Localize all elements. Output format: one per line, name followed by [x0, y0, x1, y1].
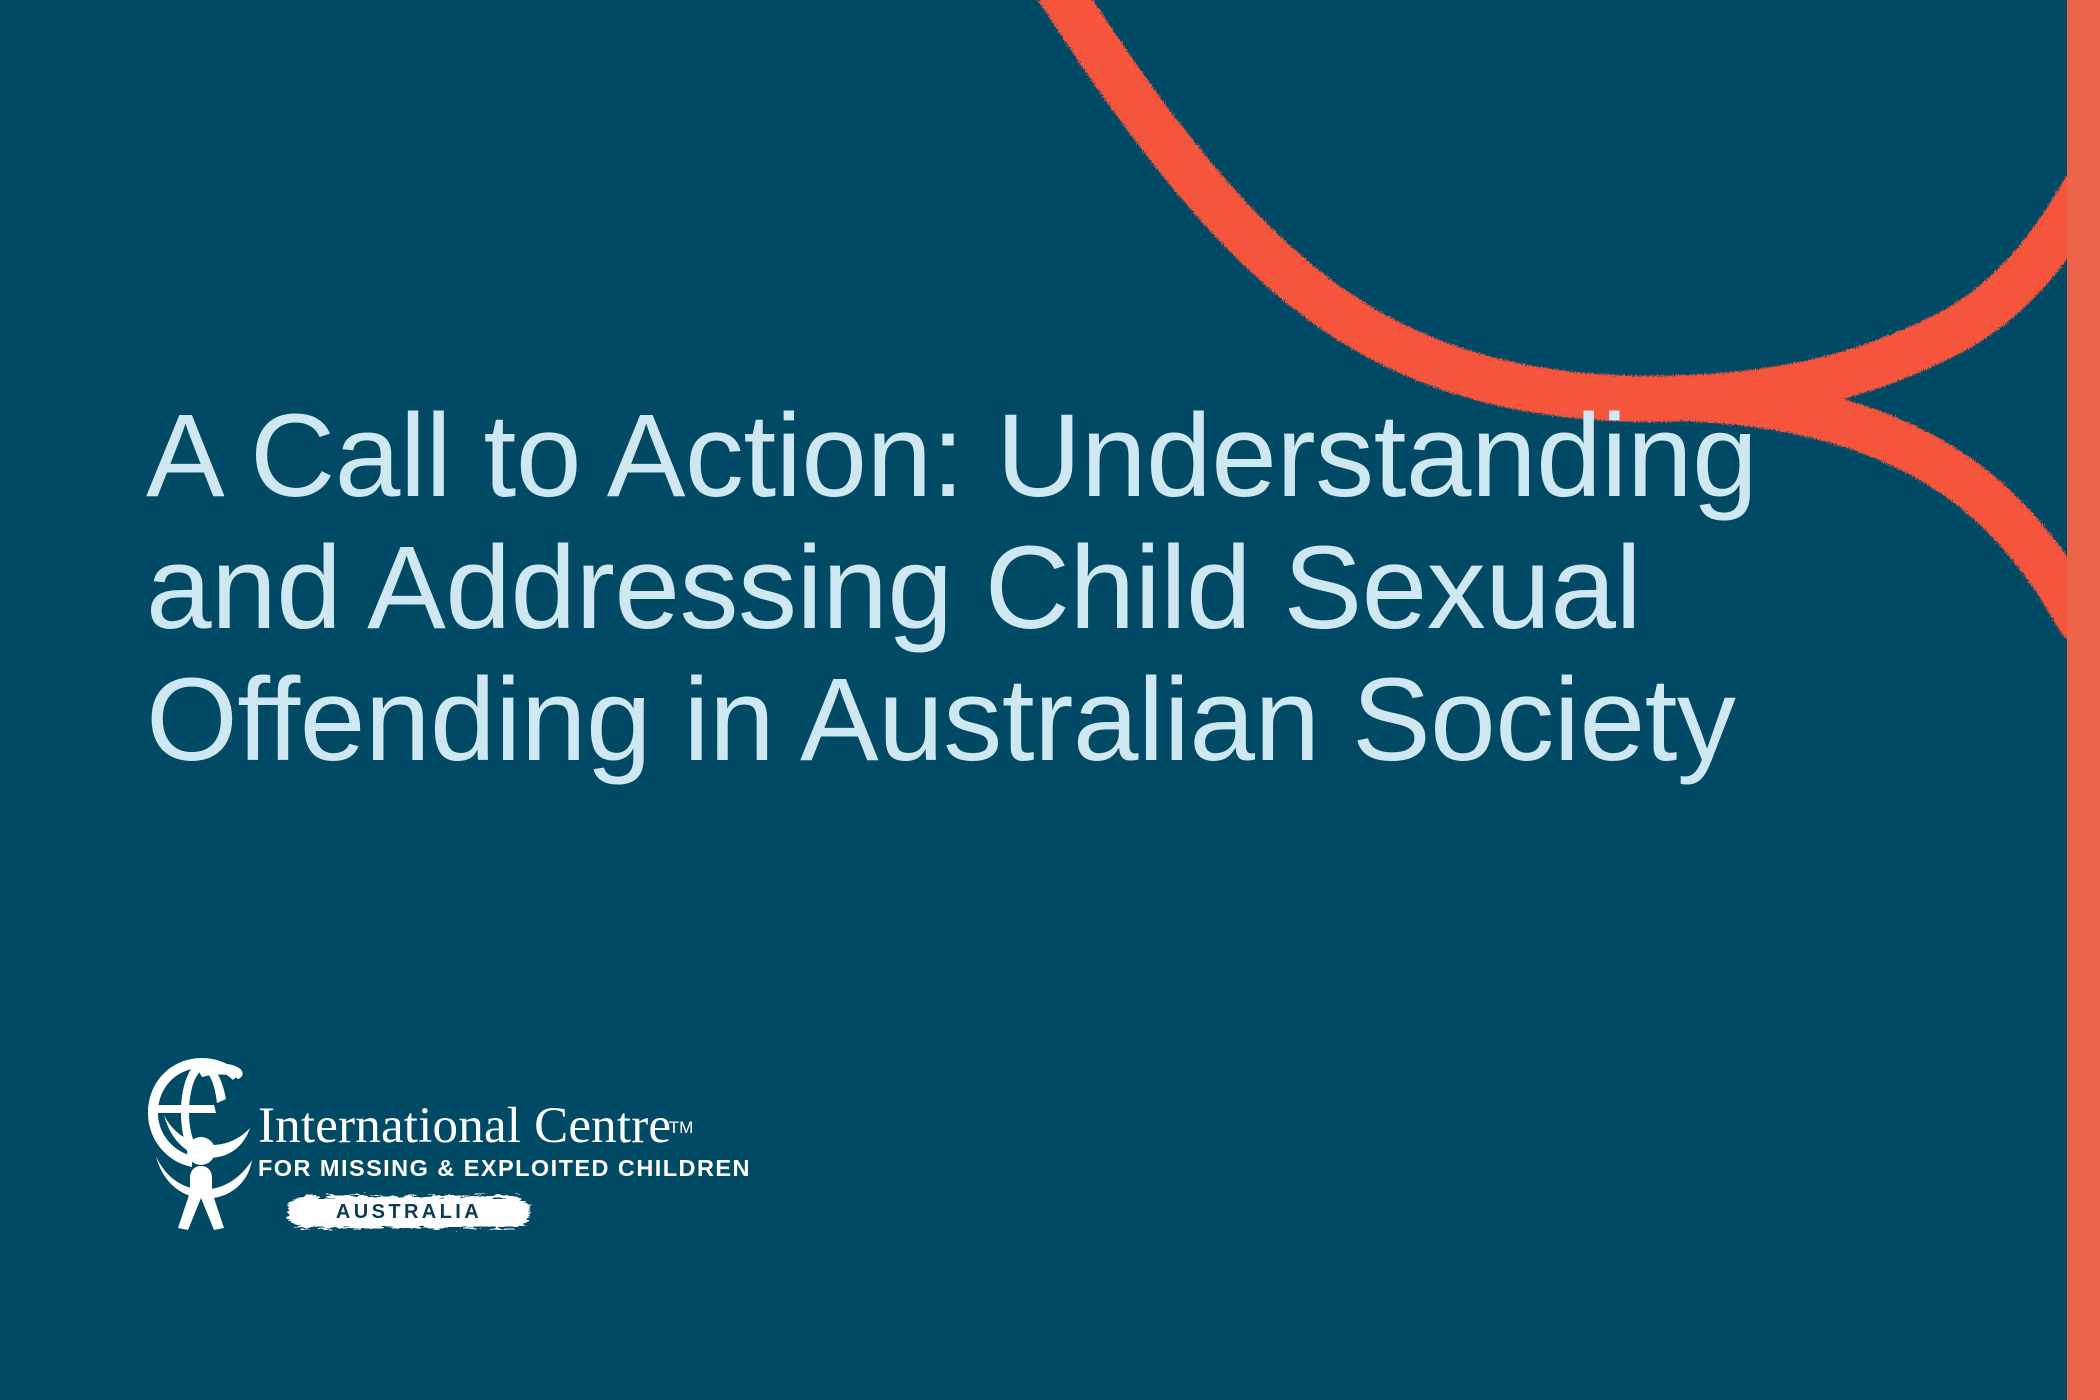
- icmec-globe-child-logo-icon: [140, 1052, 258, 1230]
- red-wave-curve: [1020, 0, 2085, 399]
- title-line-1: A Call to Action: Understanding: [146, 390, 1946, 522]
- title-line-2: and Addressing Child Sexual: [146, 522, 1946, 654]
- australia-badge: AUSTRALIA: [280, 1189, 538, 1235]
- title-slide: A Call to Action: Understanding and Addr…: [0, 0, 2100, 1400]
- logo-secondary-text: FOR MISSING & EXPLOITED CHILDREN: [258, 1155, 678, 1182]
- red-vertical-bar-overlay: [2067, 0, 2100, 1400]
- page-title: A Call to Action: Understanding and Addr…: [146, 390, 1946, 786]
- trademark-symbol: TM: [669, 1102, 694, 1154]
- logo-primary-label: International Centre: [258, 1098, 671, 1154]
- red-vertical-bar: [2067, 0, 2100, 1400]
- logo-wordmark: International Centre TM FOR MISSING & EX…: [258, 1100, 678, 1235]
- australia-badge-label: AUSTRALIA: [280, 1201, 538, 1224]
- logo-primary-text: International Centre TM: [258, 1100, 671, 1152]
- organisation-logo: International Centre TM FOR MISSING & EX…: [140, 1052, 680, 1242]
- title-line-3: Offending in Australian Society: [146, 654, 1946, 786]
